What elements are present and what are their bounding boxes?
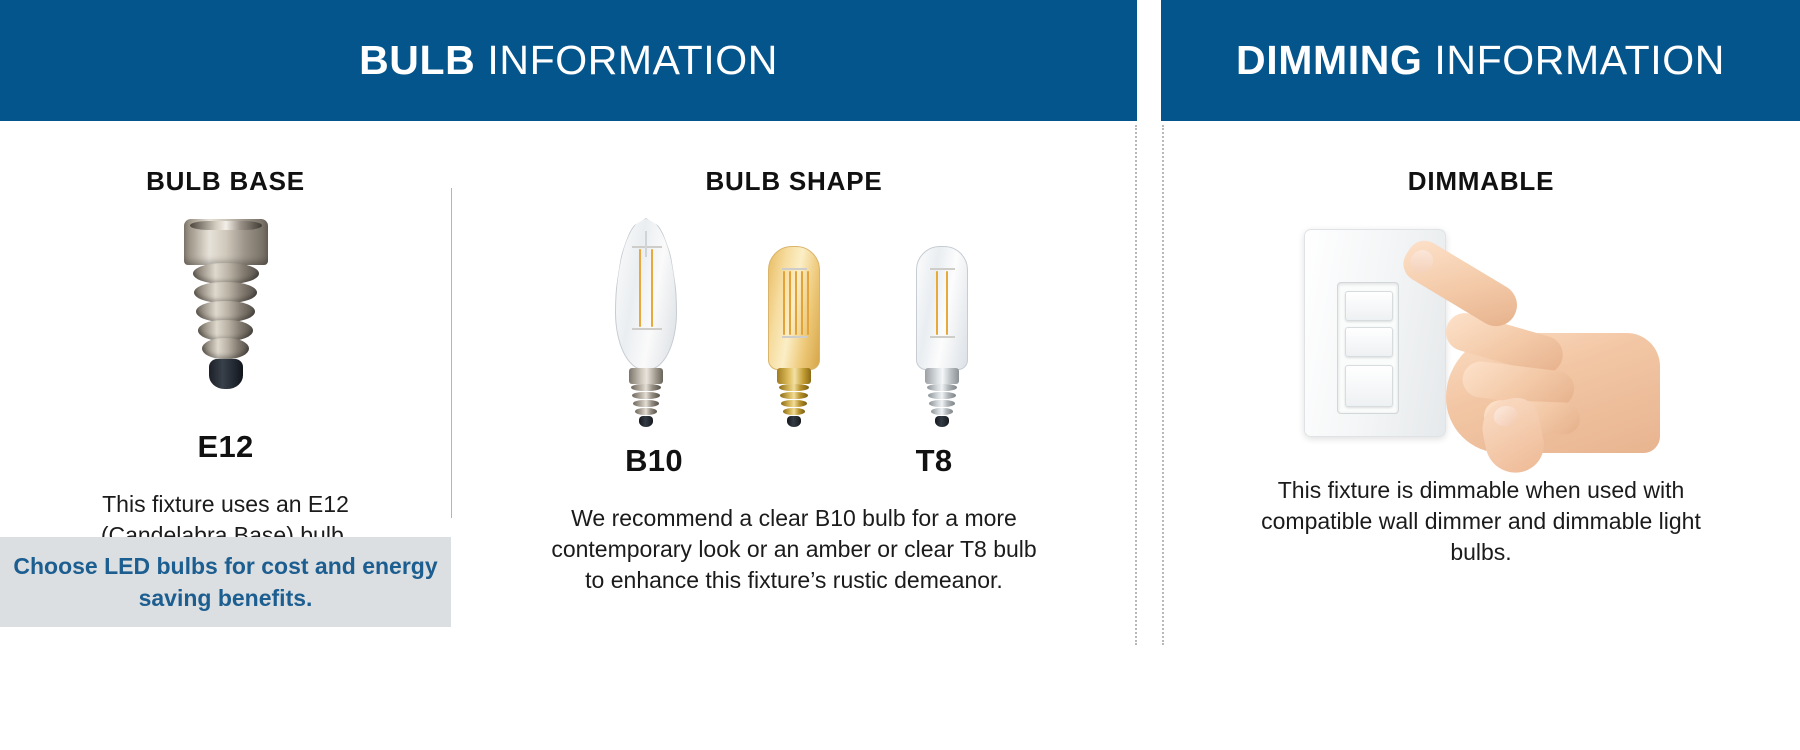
b10-bulb-icon xyxy=(603,218,689,427)
e12-base-image xyxy=(0,219,451,429)
dimmer-rocker-down xyxy=(1345,327,1393,357)
e12-screw-threads xyxy=(193,263,259,357)
dimming-column: DIMMABLE This fixture is dimmable when u… xyxy=(1162,121,1800,568)
bulb-base-title: BULB BASE xyxy=(0,166,451,197)
hand-icon xyxy=(1388,281,1658,459)
bulb-information-header-rest: INFORMATION xyxy=(475,37,778,83)
bulb-dimming-info-page: BULB INFORMATION DIMMING INFORMATION BUL… xyxy=(0,0,1800,750)
bulb-shape-description: We recommend a clear B10 bulb for a more… xyxy=(451,503,1137,596)
e12-contact-tip xyxy=(209,359,243,389)
dimming-information-header-rest: INFORMATION xyxy=(1422,37,1725,83)
dimming-information-header-bold: DIMMING xyxy=(1236,37,1422,83)
bulb-shape-images xyxy=(451,227,1137,427)
dimming-information-header: DIMMING INFORMATION xyxy=(1161,0,1800,121)
dimmable-title: DIMMABLE xyxy=(1162,166,1800,197)
t8-clear-glass xyxy=(916,246,968,370)
led-callout-box: Choose LED bulbs for cost and energy sav… xyxy=(0,537,451,627)
dimming-description: This fixture is dimmable when used with … xyxy=(1162,475,1800,568)
t8-amber-filament xyxy=(769,271,819,334)
bulb-information-header-bold: BULB xyxy=(359,37,475,83)
bulb-information-header-text: BULB INFORMATION xyxy=(359,37,778,84)
b10-glass xyxy=(615,218,677,370)
dimming-information-header-text: DIMMING INFORMATION xyxy=(1236,37,1725,84)
dimmer-rocker-up xyxy=(1345,291,1393,321)
t8-amber-base-cap xyxy=(774,368,814,427)
dimmer-switch-image xyxy=(1162,219,1800,457)
bulb-base-label: E12 xyxy=(0,429,451,465)
led-callout-text: Choose LED bulbs for cost and energy sav… xyxy=(0,550,451,614)
t8-amber-glass xyxy=(768,246,820,370)
e12-bulb-base-icon xyxy=(180,219,272,389)
t8-clear-base-cap xyxy=(922,368,962,427)
t8-amber-bulb-icon xyxy=(751,246,837,427)
bulb-information-header: BULB INFORMATION xyxy=(0,0,1137,121)
bulb-shape-labels: B10 T8 xyxy=(451,443,1137,479)
t8-clear-bulb-icon xyxy=(899,246,985,427)
b10-filament xyxy=(616,249,676,327)
bulb-shape-title: BULB SHAPE xyxy=(451,166,1137,197)
dimmer-paddle-switch xyxy=(1345,365,1393,407)
t8-clear-filament xyxy=(917,271,967,334)
bulb-base-column: BULB BASE E12 This fixture uses an E12 (… xyxy=(0,121,451,551)
b10-base-cap xyxy=(626,368,666,427)
bulb-shape-column: BULB SHAPE xyxy=(451,121,1137,596)
bulb-shape-label-b10: B10 xyxy=(594,443,714,479)
e12-collar xyxy=(184,219,268,265)
bulb-shape-label-t8: T8 xyxy=(874,443,994,479)
